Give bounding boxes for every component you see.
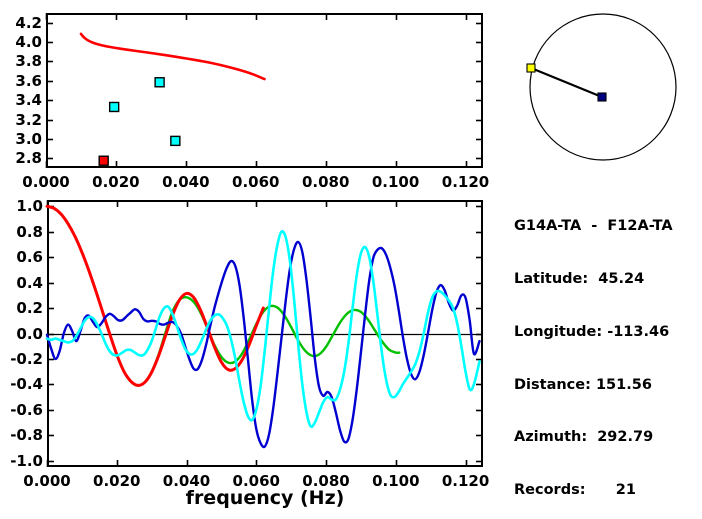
info-row-distance: Distance: 151.56 [514, 377, 702, 395]
correlation-ytick-label-7: 0.4 [0, 274, 43, 292]
map-ray-path [531, 68, 602, 97]
correlation-ytick-label-10: 1.0 [0, 197, 43, 215]
station-pair-info-panel: G14A-TA - F12A-TA Latitude: 45.24 Longit… [514, 183, 702, 519]
correlation-ytick-label-5: 0.0 [0, 325, 43, 343]
cyan-coherence-curve [47, 231, 480, 426]
red-coherence-curve [47, 206, 263, 385]
x-axis-title: frequency (Hz) [0, 487, 530, 509]
correlation-ytick-label-6: 0.2 [0, 299, 43, 317]
correlation-ytick-label-2: -0.6 [0, 401, 43, 419]
station-pair-title: G14A-TA - F12A-TA [514, 218, 702, 236]
map-circle [530, 14, 676, 160]
info-row-azimuth: Azimuth: 292.79 [514, 429, 702, 447]
correlation-ytick-label-3: -0.4 [0, 375, 43, 393]
station-event-map-svg [512, 8, 694, 168]
event-marker [598, 93, 606, 101]
correlation-ytick-label-4: -0.2 [0, 350, 43, 368]
info-row-longitude: Longitude: -113.46 [514, 324, 702, 342]
correlation-ytick-label-0: -1.0 [0, 452, 43, 470]
correlation-ytick-label-8: 0.6 [0, 248, 43, 266]
station-marker [527, 64, 535, 72]
info-row-records: Records: 21 [514, 482, 702, 500]
correlation-ytick-label-1: -0.8 [0, 426, 43, 444]
station-event-map [512, 8, 694, 168]
correlation-ytick-label-9: 0.8 [0, 223, 43, 241]
plot-canvas: 2.83.03.23.43.63.84.04.20.0000.0200.0400… [0, 0, 702, 519]
info-row-latitude: Latitude: 45.24 [514, 271, 702, 289]
